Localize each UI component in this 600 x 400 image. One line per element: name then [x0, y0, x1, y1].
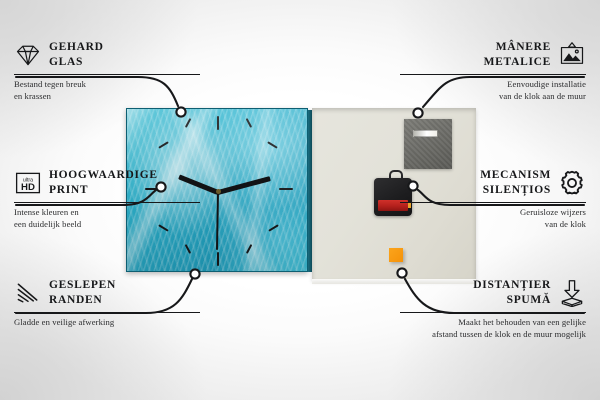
callout-title-ground-edges: GESLEPEN RANDEN — [49, 278, 116, 308]
callout-rule — [400, 312, 586, 313]
metal-hanger-plate — [404, 119, 452, 169]
callout-subtitle-tempered-glass: Bestand tegen breuk en krassen — [14, 79, 200, 103]
callout-rule — [400, 202, 586, 203]
callout-title-hd-print: HOOGWAARDIGE PRINT — [49, 168, 158, 198]
callout-title-tempered-glass: GEHARD GLAS — [49, 40, 104, 70]
callout-subtitle-silent-mechanism: Geruisloze wijzers van de klok — [400, 207, 586, 231]
callout-rule — [14, 74, 200, 75]
callout-ground-edges: GESLEPEN RANDEN Gladde en veilige afwerk… — [14, 278, 200, 329]
callout-subtitle-metal-handles: Eenvoudige installatie van de klok aan d… — [400, 79, 586, 103]
ultra-hd-icon-large-label: HD — [21, 182, 35, 193]
foam-spacer-block — [389, 248, 403, 262]
callout-subtitle-hd-print: Intense kleuren en een duidelijk beeld — [14, 207, 200, 231]
bevelled-edge-icon — [14, 279, 42, 307]
callout-metal-handles: MÂNERE METALICE Eenvoudige installatie v… — [400, 40, 586, 103]
spacer-arrow-icon — [558, 279, 586, 307]
clock-minute-hand — [217, 176, 270, 195]
callout-rule — [14, 312, 200, 313]
callout-tempered-glass: GEHARD GLAS Bestand tegen breuk en krass… — [14, 40, 200, 103]
callout-subtitle-foam-spacer: Maakt het behouden van een gelijke afsta… — [400, 317, 586, 341]
callout-title-metal-handles: MÂNERE METALICE — [484, 40, 551, 70]
clock-second-hand — [216, 192, 219, 250]
framed-picture-icon — [558, 41, 586, 69]
callout-rule — [400, 74, 586, 75]
clock-hands-hub — [216, 189, 221, 194]
callout-foam-spacer: DISTANȚIER SPUMĂ Maakt het behouden van … — [400, 278, 586, 341]
diamond-icon — [14, 41, 42, 69]
infographic-canvas: GEHARD GLAS Bestand tegen breuk en krass… — [0, 0, 600, 400]
ultra-hd-icon: ultra HD — [14, 169, 42, 197]
callout-subtitle-ground-edges: Gladde en veilige afwerking — [14, 317, 200, 329]
hanger-slot — [413, 130, 438, 137]
callout-silent-mechanism: MECANISM SILENȚIOS Geruisloze wijzers va… — [400, 168, 586, 231]
callout-title-foam-spacer: DISTANȚIER SPUMĂ — [473, 278, 551, 308]
callout-rule — [14, 202, 200, 203]
gear-icon — [558, 169, 586, 197]
callout-hd-print: ultra HD HOOGWAARDIGE PRINT Intense kleu… — [14, 168, 200, 231]
callout-title-silent-mechanism: MECANISM SILENȚIOS — [480, 168, 551, 198]
